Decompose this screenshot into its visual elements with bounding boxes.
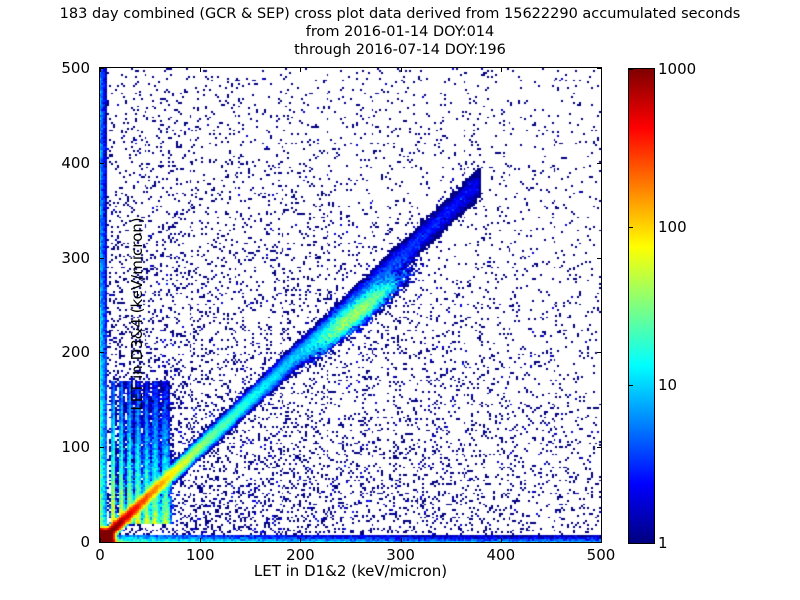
y-tick-mark [597, 352, 601, 353]
y-tick-label: 100 [61, 438, 90, 456]
chart-title-line-1: 183 day combined (GCR & SEP) cross plot … [0, 5, 800, 23]
colorbar-tick-mark [629, 227, 633, 228]
x-tick-mark [300, 538, 301, 542]
y-tick-mark [597, 163, 601, 164]
y-tick-label: 200 [61, 343, 90, 361]
y-tick-mark [100, 258, 104, 259]
y-tick-label: 400 [61, 154, 90, 172]
colorbar-tick-mark [629, 543, 633, 544]
x-tick-mark [501, 538, 502, 542]
y-tick-mark [597, 258, 601, 259]
colorbar-tick-label: 1000 [658, 60, 696, 78]
x-tick-mark [300, 68, 301, 72]
y-tick-mark [597, 542, 601, 543]
y-tick-mark [100, 352, 104, 353]
y-tick-mark [100, 68, 104, 69]
x-axis-label: LET in D1&2 (keV/micron) [99, 562, 602, 580]
x-tick-mark [501, 68, 502, 72]
colorbar-tick-mark [629, 385, 633, 386]
x-tick-mark [401, 68, 402, 72]
x-tick-mark [601, 538, 602, 542]
y-tick-label: 300 [61, 249, 90, 267]
x-tick-mark [200, 538, 201, 542]
y-tick-label: 0 [80, 533, 90, 551]
colorbar-tick-label: 10 [658, 376, 677, 394]
x-tick-mark [401, 538, 402, 542]
scatter-heatmap [100, 68, 601, 542]
colorbar-tick-mark [629, 69, 633, 70]
chart-title-line-3: through 2016-07-14 DOY:196 [0, 41, 800, 59]
y-axis-label: LET in D3&4 (keV/micron) [128, 76, 146, 552]
y-tick-mark [597, 68, 601, 69]
y-tick-mark [100, 542, 104, 543]
y-tick-mark [100, 447, 104, 448]
y-tick-mark [597, 447, 601, 448]
plot-area [99, 67, 602, 543]
colorbar-tick-label: 100 [658, 218, 687, 236]
colorbar [628, 68, 655, 544]
x-tick-mark [200, 68, 201, 72]
colorbar-gradient [629, 69, 654, 543]
y-tick-mark [100, 163, 104, 164]
x-tick-mark [601, 68, 602, 72]
chart-title-line-2: from 2016-01-14 DOY:014 [0, 23, 800, 41]
y-tick-label: 500 [61, 59, 90, 77]
colorbar-tick-label: 1 [658, 534, 668, 552]
chart-title: 183 day combined (GCR & SEP) cross plot … [0, 5, 800, 59]
figure-canvas: 183 day combined (GCR & SEP) cross plot … [0, 0, 800, 600]
